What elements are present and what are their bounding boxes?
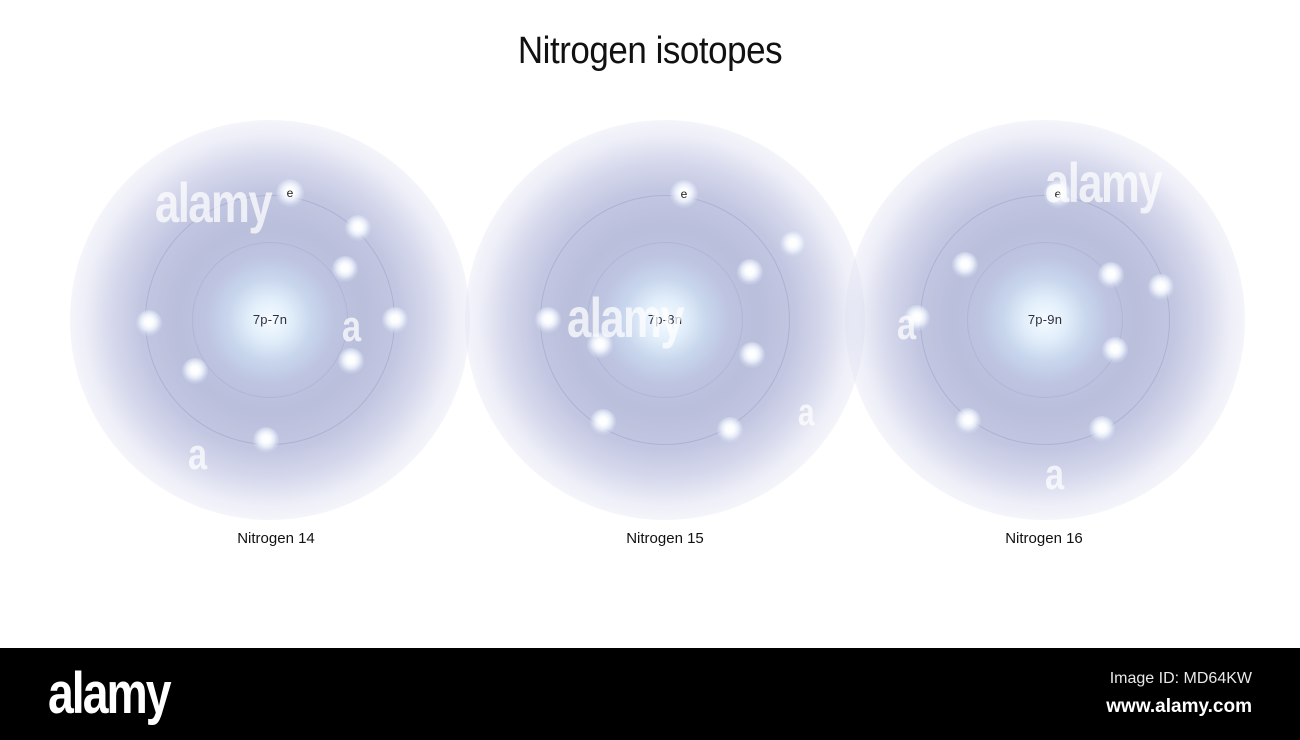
electron (338, 348, 364, 374)
electron (587, 332, 613, 358)
nucleus-label: 7p-7n (70, 312, 470, 327)
caption-nitrogen-15: Nitrogen 15 (465, 530, 865, 547)
alamy-url-text: www.alamy.com (1106, 696, 1252, 718)
electron (717, 417, 743, 443)
electron-label: e (1055, 188, 1062, 200)
electron (1148, 274, 1174, 300)
electron-label: e (681, 188, 688, 200)
electron (253, 427, 279, 453)
figure-area: 7p-7n e alamy a a 7p-8n e a (0, 0, 1300, 648)
electron (1089, 416, 1115, 442)
electron (739, 342, 765, 368)
atom-diagram-nitrogen-15: 7p-8n e alamy a a (465, 120, 865, 520)
electron-labeled: e (276, 179, 304, 207)
electron (332, 256, 358, 282)
electron (590, 409, 616, 435)
footer-bar: alamy Image ID: MD64KW www.alamy.com (0, 648, 1300, 740)
electron (1098, 262, 1124, 288)
caption-nitrogen-16: Nitrogen 16 (844, 530, 1244, 547)
electron (182, 358, 208, 384)
electron (382, 307, 408, 333)
caption-nitrogen-14: Nitrogen 14 (76, 530, 476, 547)
electron (904, 305, 930, 331)
electron-labeled: e (670, 180, 698, 208)
alamy-logo: alamy (48, 664, 170, 725)
electron (737, 259, 763, 285)
electron-labeled: e (1044, 180, 1072, 208)
atom-diagram-nitrogen-16: 7p-9n e alamy a a (845, 120, 1245, 520)
image-id-text: Image ID: MD64KW (1110, 670, 1252, 688)
watermark-partial: a (795, 132, 810, 175)
atom-diagram-nitrogen-14: 7p-7n e alamy a a (70, 120, 470, 520)
electron (535, 307, 561, 333)
electron (345, 215, 371, 241)
electron (1102, 337, 1128, 363)
electron (955, 408, 981, 434)
electron (780, 231, 806, 257)
nucleus-label: 7p-8n (465, 312, 865, 327)
electron-label: e (287, 187, 294, 199)
electron (136, 310, 162, 336)
electron (952, 252, 978, 278)
